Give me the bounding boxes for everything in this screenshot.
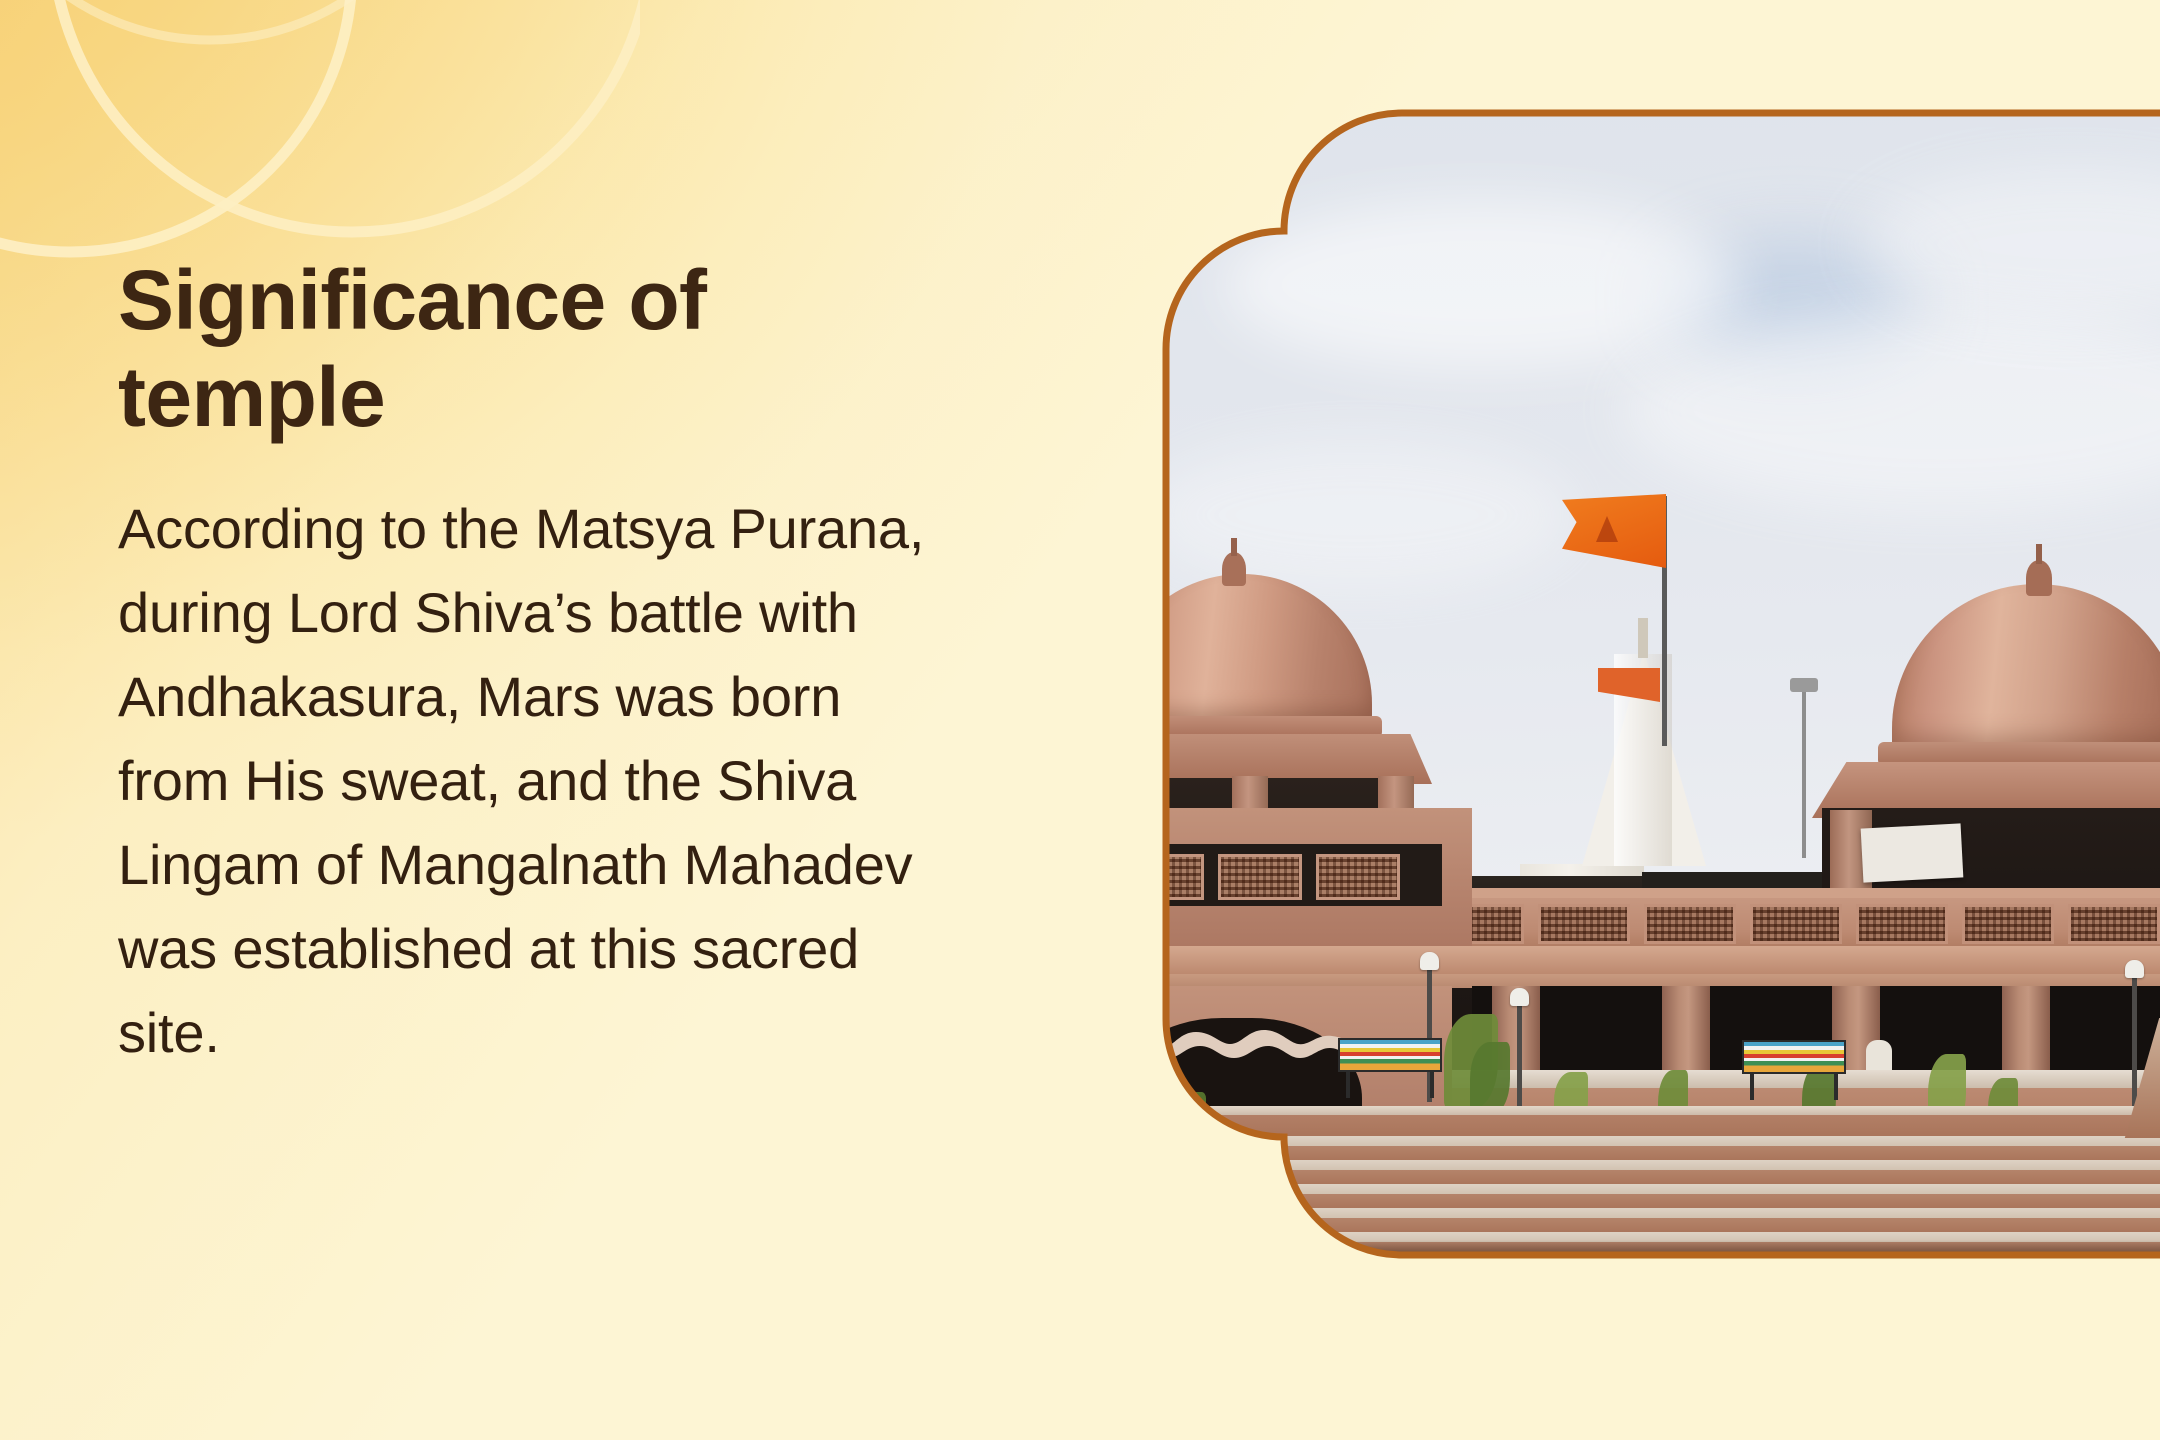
step xyxy=(1102,1208,2160,1234)
jali-screen xyxy=(1120,854,1204,900)
striped-bench xyxy=(1338,1038,1442,1098)
left-dome-finial-tip xyxy=(1231,538,1237,556)
roof-light-head xyxy=(1790,678,1818,692)
step xyxy=(1102,1136,2160,1162)
body-paragraph: According to the Matsya Purana, during L… xyxy=(118,487,948,1075)
page-title: Significance of temple xyxy=(118,252,818,447)
cloud xyxy=(1222,200,1742,370)
step xyxy=(1102,1184,2160,1210)
lamp-post xyxy=(1510,990,1529,1108)
jali-screen xyxy=(1538,904,1630,944)
jali-screen xyxy=(1856,904,1948,944)
jali-screen xyxy=(2068,904,2160,944)
jali-screen xyxy=(1218,854,1302,900)
photo-frame-svg xyxy=(1102,110,2160,1258)
plant xyxy=(1470,1042,1510,1116)
scalloped-arch-trim xyxy=(1102,1026,1374,1072)
striped-bench xyxy=(1742,1040,1846,1100)
temple-photo-panel xyxy=(1102,110,2160,1258)
shikhara-finial xyxy=(1638,618,1648,658)
right-dome-finial xyxy=(2026,560,2052,596)
cornice xyxy=(1102,946,2160,976)
cloud xyxy=(1142,440,1572,590)
step xyxy=(1102,1160,2160,1186)
left-pavilion-column xyxy=(1102,776,1118,958)
roof-light-pole xyxy=(1802,682,1806,858)
left-dome-finial xyxy=(1222,552,1246,586)
jali-screen xyxy=(1750,904,1842,944)
text-column: Significance of temple According to the … xyxy=(118,252,978,1075)
signboard xyxy=(1861,823,1964,882)
temple-photograph xyxy=(1102,110,2160,1258)
jali-screen xyxy=(1316,854,1400,900)
jali-screen xyxy=(1644,904,1736,944)
temple-steps xyxy=(1102,1130,2160,1258)
jali-screen xyxy=(1962,904,2054,944)
right-dome-finial-tip xyxy=(2036,544,2042,564)
